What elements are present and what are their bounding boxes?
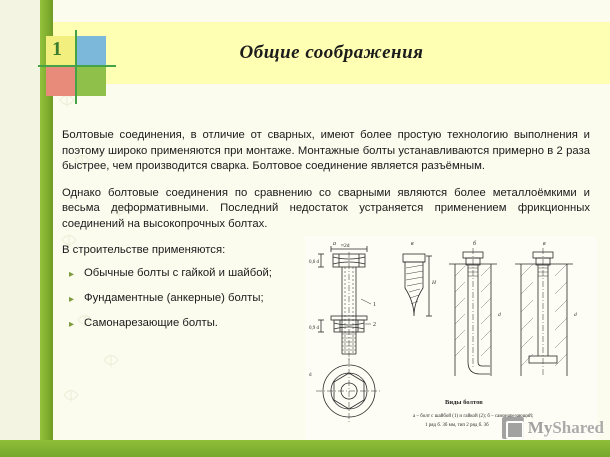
watermark: MyShared bbox=[502, 417, 604, 439]
label-a: а bbox=[333, 241, 336, 247]
square-green bbox=[76, 66, 106, 96]
watermark-my: My bbox=[528, 418, 553, 437]
bullet-marker-icon: ▸ bbox=[69, 292, 74, 307]
slide-root: Общие соображения 1 Болтовые соединения,… bbox=[0, 0, 610, 457]
page-title: Общие соображения bbox=[53, 22, 610, 84]
technical-drawing: а в б в ≈2d bbox=[305, 236, 597, 440]
callout-1: 1 bbox=[373, 302, 376, 308]
dim-H-b: Н bbox=[431, 280, 437, 286]
bullet-marker-icon: ▸ bbox=[69, 267, 74, 282]
label-v: б bbox=[473, 240, 477, 247]
slideshare-logo-icon bbox=[502, 417, 524, 439]
label-g: в bbox=[543, 241, 546, 247]
label-b: в bbox=[411, 241, 414, 247]
cross-horizontal-line bbox=[38, 65, 116, 67]
list-item-label: Фундаментные (анкерные) болты; bbox=[84, 292, 264, 304]
square-red bbox=[46, 66, 76, 96]
slide-number: 1 bbox=[52, 38, 62, 61]
square-blue bbox=[76, 36, 106, 66]
list-item-label: Самонарезающие болты. bbox=[84, 317, 218, 329]
slide-header: Общие соображения bbox=[53, 22, 610, 84]
drawing-caption-title: Виды болтов bbox=[445, 399, 483, 406]
green-bottom-bar bbox=[0, 440, 610, 457]
bullet-marker-icon: ▸ bbox=[69, 317, 74, 332]
left-decorative-band bbox=[0, 0, 40, 457]
bolt-types-diagram: а в б в ≈2d bbox=[305, 236, 597, 440]
cross-vertical-line bbox=[75, 30, 77, 104]
drawing-caption-line-2: 1 ряд б. 3б мм, тип 2 ряд б. 3б bbox=[425, 423, 489, 428]
dim-left-3: d bbox=[309, 373, 312, 378]
callout-2: 2 bbox=[373, 322, 376, 328]
dim-d-g: d bbox=[574, 312, 577, 318]
list-item-label: Обычные болты с гайкой и шайбой; bbox=[84, 267, 272, 279]
dim-top: ≈2d bbox=[341, 243, 350, 249]
dim-left-2: 0,9 d bbox=[309, 326, 320, 331]
paragraph-2: Однако болтовые соединения по сравнению … bbox=[62, 186, 590, 233]
watermark-shared: Shared bbox=[552, 418, 604, 437]
paragraph-1: Болтовые соединения, в отличие от сварны… bbox=[62, 128, 590, 175]
watermark-text: MyShared bbox=[528, 418, 604, 438]
dim-d-v: d bbox=[498, 312, 501, 318]
dim-left-1: 0,6 d bbox=[309, 260, 320, 265]
slide-number-block: 1 bbox=[46, 36, 108, 98]
